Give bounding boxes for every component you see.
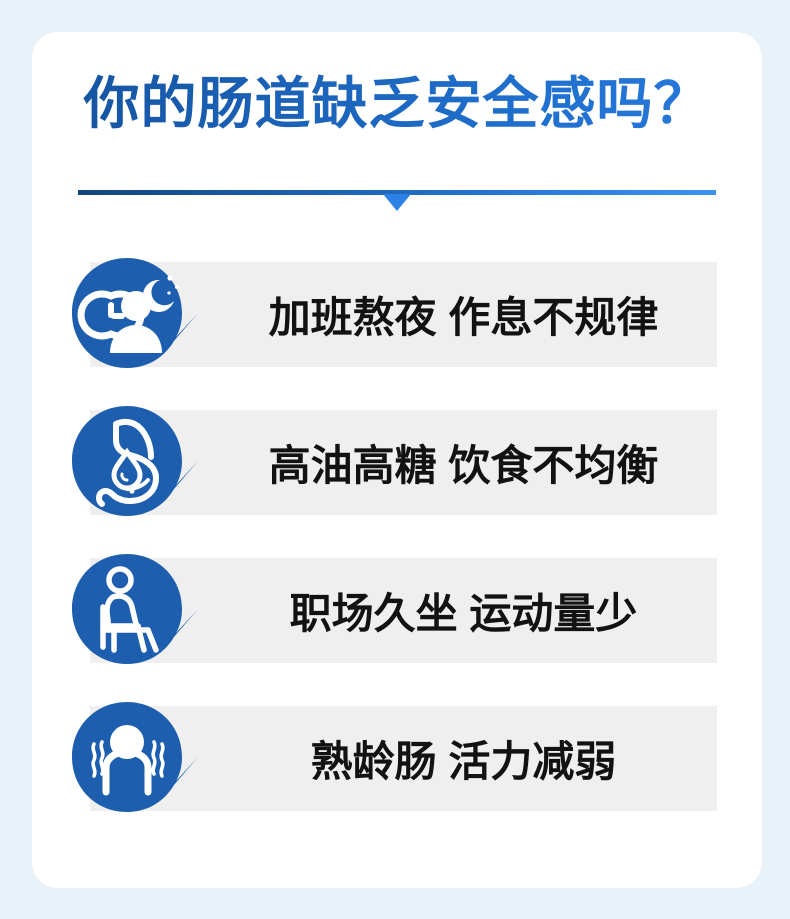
list-item[interactable]: 高油高糖 饮食不均衡 (32, 408, 762, 516)
list-item[interactable]: 熟龄肠 活力减弱 (32, 704, 762, 812)
overtime-night-person-clock-moon-icon (70, 256, 200, 370)
list-item[interactable]: 职场久坐 运动量少 (32, 556, 762, 664)
weak-trembling-person-icon (70, 700, 200, 814)
list-item[interactable]: 加班熬夜 作息不规律 (32, 260, 762, 368)
stomach-oil-drop-icon (70, 404, 200, 518)
reason-list: 加班熬夜 作息不规律 (32, 32, 762, 888)
sitting-person-chair-icon (70, 552, 200, 666)
content-card: 你的肠道缺乏安全感吗？ 加班熬夜 作息不规律 (32, 32, 762, 888)
poster-page: 你的肠道缺乏安全感吗？ 加班熬夜 作息不规律 (0, 0, 790, 919)
